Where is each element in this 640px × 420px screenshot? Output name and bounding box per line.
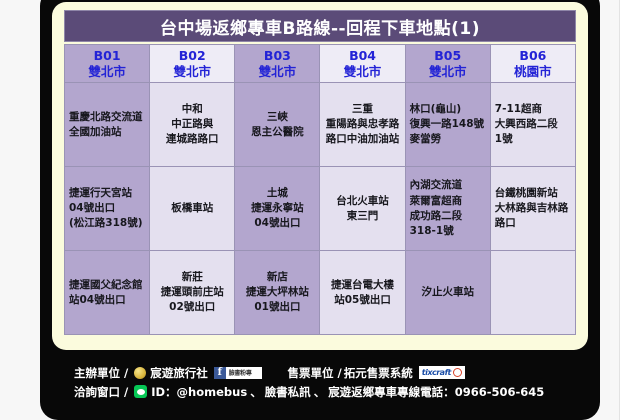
column-city-b02: 雙北市 xyxy=(154,64,230,80)
cell-b06-r3 xyxy=(490,251,575,335)
table-row: 捷運行天宮站04號出口(松江路318號) 板橋車站 土城捷運永寧站04號出口 台… xyxy=(65,167,576,251)
cell-b04-r3: 捷運台電大樓站05號出口 xyxy=(320,251,405,335)
table-header-row: B01 雙北市 B02 雙北市 B03 雙北市 B04 雙北市 xyxy=(65,45,576,83)
tixcraft-logo-icon[interactable]: tixcraft xyxy=(419,366,465,379)
contact-label: 洽詢窗口 / xyxy=(74,384,128,400)
cell-b02-r3: 新莊捷運頭前庄站02號出口 xyxy=(150,251,235,335)
line-app-icon[interactable] xyxy=(134,385,147,398)
cell-b03-r3: 新店捷運大坪林站01號出口 xyxy=(235,251,320,335)
column-header-b06: B06 桃園市 xyxy=(490,45,575,83)
messenger-label: 臉書私訊 xyxy=(265,384,311,400)
column-city-b04: 雙北市 xyxy=(324,64,400,80)
column-header-b03: B03 雙北市 xyxy=(235,45,320,83)
facebook-f-glyph: f xyxy=(214,367,226,379)
table-row: 捷運國父紀念館站04號出口 新莊捷運頭前庄站02號出口 新店捷運大坪林站01號出… xyxy=(65,251,576,335)
line-id: ID：@homebus xyxy=(151,384,247,400)
cell-b01-r2: 捷運行天宮站04號出口(松江路318號) xyxy=(65,167,150,251)
column-header-b05: B05 雙北市 xyxy=(405,45,490,83)
column-code-b02: B02 xyxy=(154,48,230,64)
contact-separator-2: 、 xyxy=(314,384,326,400)
tixcraft-dot xyxy=(453,368,462,377)
poster-footer: 主辦單位 / 宸遊旅行社 f 臉書粉專 售票單位 / 拓元售票系統 tixcra… xyxy=(40,356,600,408)
globe-icon xyxy=(134,367,146,379)
cell-b05-r3: 汐止火車站 xyxy=(405,251,490,335)
cell-b03-r1: 三峽恩主公醫院 xyxy=(235,83,320,167)
dropoff-locations-table: B01 雙北市 B02 雙北市 B03 雙北市 B04 雙北市 xyxy=(64,44,576,335)
column-city-b01: 雙北市 xyxy=(69,64,145,80)
column-header-b02: B02 雙北市 xyxy=(150,45,235,83)
column-code-b03: B03 xyxy=(239,48,315,64)
cell-b06-r2: 台鐵桃園新站大林路與吉林路路口 xyxy=(490,167,575,251)
cell-b01-r3: 捷運國父紀念館站04號出口 xyxy=(65,251,150,335)
table-row: 重慶北路交流道全國加油站 中和中正路與連城路路口 三峽恩主公醫院 三重重陽路與忠… xyxy=(65,83,576,167)
cell-b04-r1: 三重重陽路與忠孝路路口中油加油站 xyxy=(320,83,405,167)
column-code-b06: B06 xyxy=(495,48,571,64)
footer-line-organizer: 主辦單位 / 宸遊旅行社 f 臉書粉專 售票單位 / 拓元售票系統 tixcra… xyxy=(74,365,566,381)
organizer-name: 宸遊旅行社 xyxy=(150,365,208,381)
cell-b03-r2: 土城捷運永寧站04號出口 xyxy=(235,167,320,251)
tixcraft-wordmark: tixcraft xyxy=(422,368,451,377)
hotline-number: 0966-506-645 xyxy=(455,385,545,399)
cell-b02-r2: 板橋車站 xyxy=(150,167,235,251)
ticketing-name: 拓元售票系統 xyxy=(344,365,413,381)
facebook-icon[interactable]: f 臉書粉專 xyxy=(214,367,262,379)
poster-panel: 台中場返鄉專車B路線--回程下車地點(1) B01 雙北市 B02 雙北市 B0… xyxy=(52,2,588,350)
cell-b05-r1: 林口(龜山)復興一路148號麥當勞 xyxy=(405,83,490,167)
cell-b04-r2: 台北火車站東三門 xyxy=(320,167,405,251)
cell-b06-r1: 7-11超商大興西路二段1號 xyxy=(490,83,575,167)
column-city-b06: 桃園市 xyxy=(495,64,571,80)
line-bubble-glyph xyxy=(137,389,145,395)
footer-line-contact: 洽詢窗口 / ID：@homebus 、 臉書私訊 、 宸遊返鄉專車專線電話： … xyxy=(74,384,566,400)
contact-separator-1: 、 xyxy=(250,384,262,400)
column-code-b05: B05 xyxy=(410,48,486,64)
organizer-label: 主辦單位 / xyxy=(74,365,128,381)
column-city-b05: 雙北市 xyxy=(410,64,486,80)
poster-title: 台中場返鄉專車B路線--回程下車地點(1) xyxy=(64,10,576,42)
column-header-b01: B01 雙北市 xyxy=(65,45,150,83)
column-city-b03: 雙北市 xyxy=(239,64,315,80)
facebook-badge-label: 臉書粉專 xyxy=(226,368,262,377)
hotline-label: 宸遊返鄉專車專線電話： xyxy=(328,384,455,400)
cell-b02-r1: 中和中正路與連城路路口 xyxy=(150,83,235,167)
cell-b05-r2: 內湖交流道萊爾富超商成功路二段318-1號 xyxy=(405,167,490,251)
column-code-b01: B01 xyxy=(69,48,145,64)
column-code-b04: B04 xyxy=(324,48,400,64)
ticketing-label: 售票單位 / xyxy=(288,365,342,381)
cell-b01-r1: 重慶北路交流道全國加油站 xyxy=(65,83,150,167)
column-header-b04: B04 雙北市 xyxy=(320,45,405,83)
page-guide-line-right-2 xyxy=(619,0,620,420)
poster-frame: 台中場返鄉專車B路線--回程下車地點(1) B01 雙北市 B02 雙北市 B0… xyxy=(40,0,600,420)
